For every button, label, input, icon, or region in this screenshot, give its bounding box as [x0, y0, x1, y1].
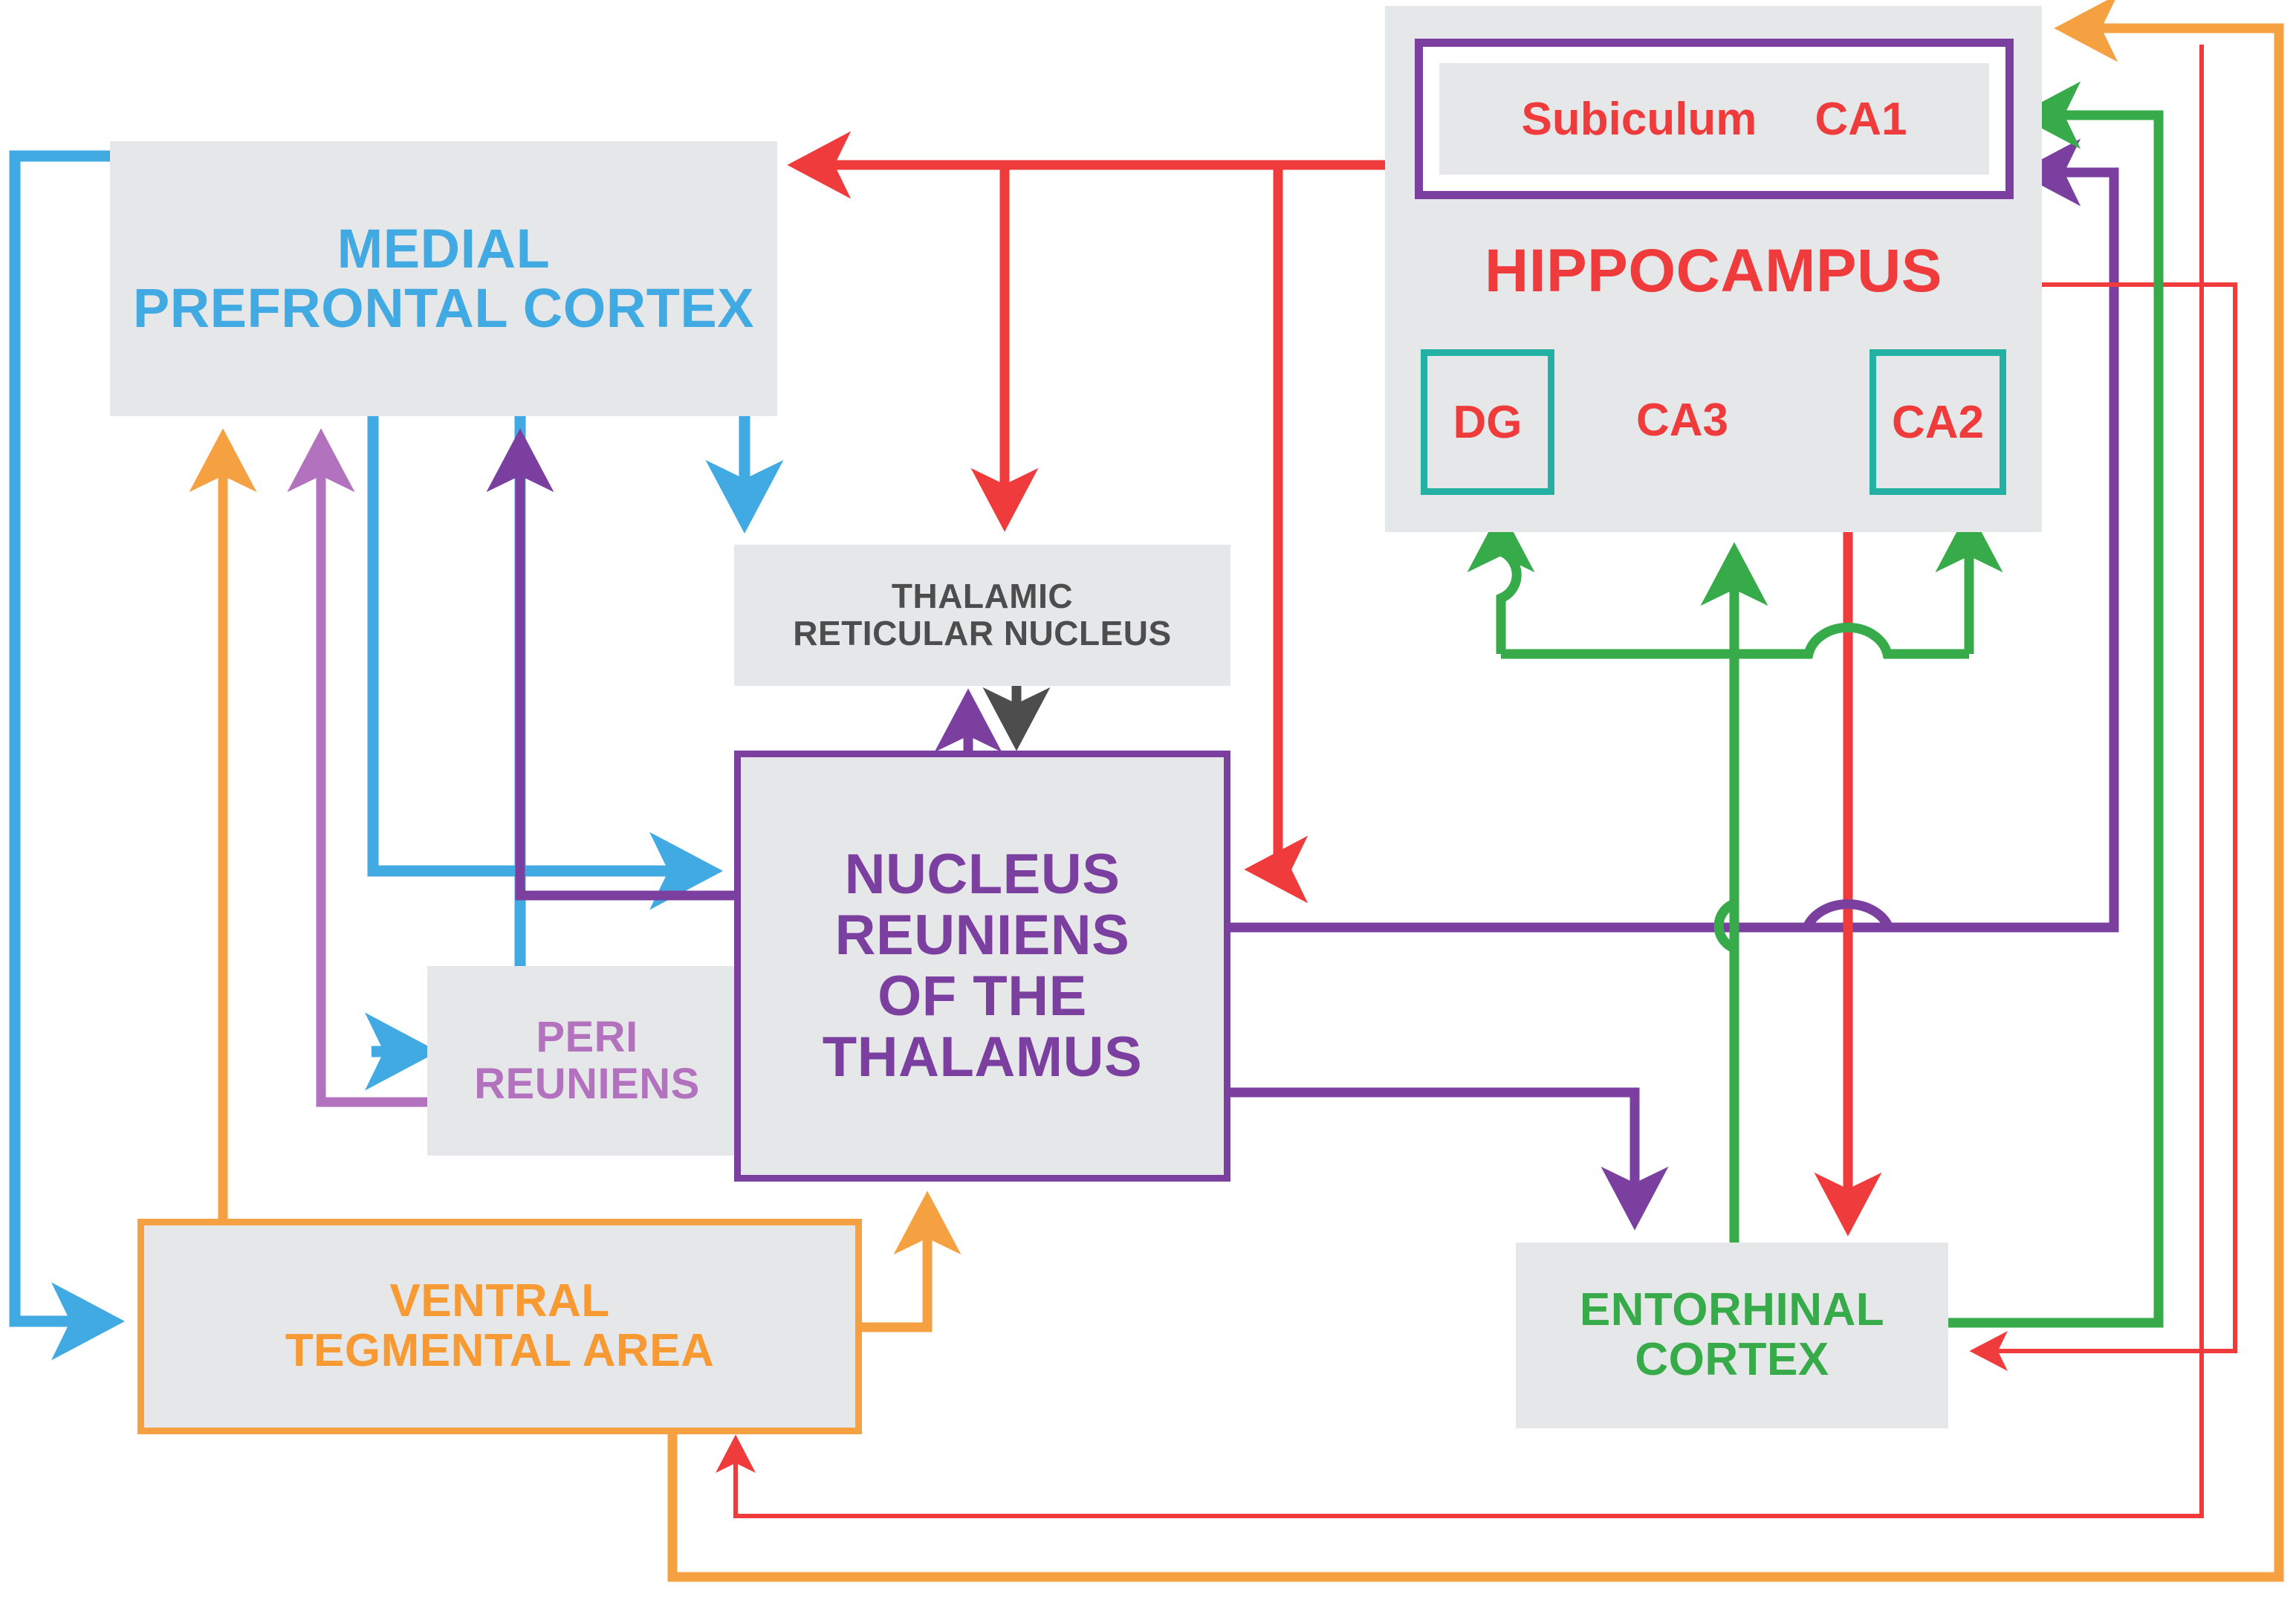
node-medial-prefrontal-cortex[interactable]: MEDIAL PREFRONTAL CORTEX — [110, 141, 777, 416]
node-entorhinal-cortex[interactable]: ENTORHINAL CORTEX — [1516, 1243, 1948, 1428]
node-thalamic-reticular-nucleus[interactable]: THALAMIC RETICULAR NUCLEUS — [734, 545, 1230, 686]
edge-nre-to-mpfc — [520, 440, 734, 895]
ca3-label: CA3 — [1636, 394, 1728, 447]
edge-mpfc-to-peri — [394, 416, 520, 1052]
node-nucleus-reuniens-of-the-thalamus[interactable]: NUCLEUS REUNIENS OF THE THALAMUS — [734, 751, 1230, 1182]
node-peri-reuniens[interactable]: PERI REUNIENS — [427, 966, 747, 1156]
edge-ca1-to-nre — [1256, 165, 1278, 869]
edge-nre-to-ec — [1230, 1092, 1635, 1219]
dg-box[interactable]: DG — [1421, 349, 1554, 495]
subiculum-ca1-capsule[interactable]: Subiculum CA1 — [1415, 39, 2014, 199]
edge-mpfc-to-nre — [373, 416, 710, 871]
entorhinal-cortex-label: ENTORHINAL CORTEX — [1580, 1286, 1884, 1385]
ca1-label: CA1 — [1815, 93, 1907, 146]
node-ventral-tegmental-area[interactable]: VENTRAL TEGMENTAL AREA — [137, 1219, 862, 1434]
trn-label: THALAMIC RETICULAR NUCLEUS — [793, 578, 1171, 652]
edge-vta-to-nre — [862, 1202, 927, 1327]
peri-reuniens-label: PERI REUNIENS — [474, 1014, 700, 1107]
ca2-label: CA2 — [1892, 396, 1984, 449]
ca2-box[interactable]: CA2 — [1869, 349, 2006, 495]
edge-ec-to-dg — [1501, 520, 1517, 654]
edge-mpfc-to-vta — [15, 156, 111, 1321]
circuit-diagram-canvas: MEDIAL PREFRONTAL CORTEX THALAMIC RETICU… — [0, 0, 2296, 1597]
vta-label: VENTRAL TEGMENTAL AREA — [285, 1277, 715, 1376]
hippocampus-subfields-row: DG CA3 CA2 — [1413, 355, 2017, 489]
dg-label: DG — [1453, 396, 1522, 449]
subiculum-ca1-inner: Subiculum CA1 — [1439, 63, 1989, 175]
hippocampus-title: HIPPOCAMPUS — [1385, 236, 2042, 306]
mpfc-label: MEDIAL PREFRONTAL CORTEX — [133, 219, 754, 338]
nucleus-reuniens-label: NUCLEUS REUNIENS OF THE THALAMUS — [823, 844, 1142, 1088]
subiculum-label: Subiculum — [1522, 93, 1757, 146]
node-hippocampus[interactable]: Subiculum CA1 HIPPOCAMPUS DG CA3 CA2 — [1385, 6, 2042, 532]
